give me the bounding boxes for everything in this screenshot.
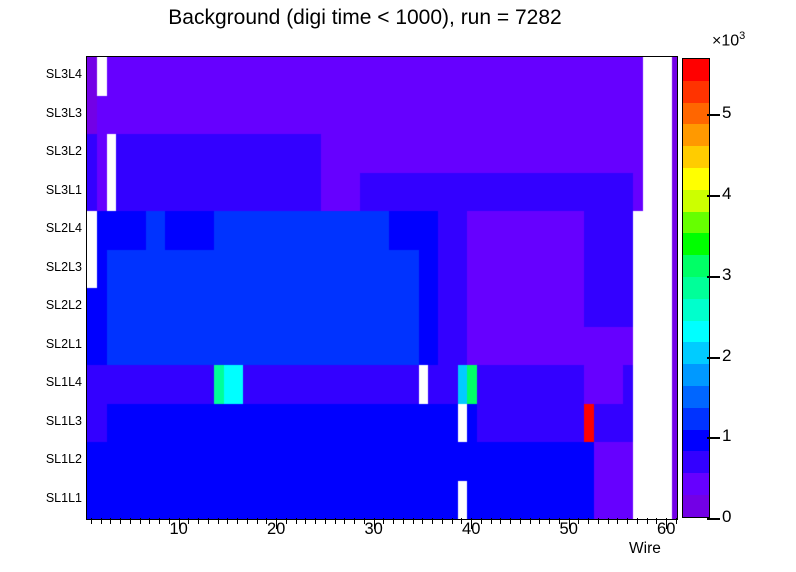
x-tick-label-50: 50: [549, 520, 589, 539]
y-axis-label-sl1l3: SL1L3: [20, 414, 82, 428]
x-tick-minor: [149, 518, 150, 524]
x-tick-label-10: 10: [159, 520, 199, 539]
colorbar-tick-label-2: 2: [722, 346, 731, 366]
y-axis-label-sl2l2: SL2L2: [20, 298, 82, 312]
colorbar-ticks: [706, 58, 720, 518]
y-axis-labels: SL3L4SL3L3SL3L2SL3L1SL2L4SL2L3SL2L2SL2L1…: [14, 56, 82, 518]
x-tick-minor: [101, 518, 102, 524]
y-axis-label-sl3l4: SL3L4: [20, 67, 82, 81]
x-tick-minor: [539, 518, 540, 524]
colorbar-tick-label-1: 1: [722, 426, 731, 446]
x-tick-minor: [608, 518, 609, 524]
x-tick-minor: [627, 518, 628, 524]
y-axis-label-sl2l1: SL2L1: [20, 337, 82, 351]
x-tick-minor: [422, 518, 423, 524]
x-tick-minor: [637, 518, 638, 524]
x-tick-minor: [227, 518, 228, 524]
x-tick-minor: [403, 518, 404, 524]
x-tick-minor: [432, 518, 433, 524]
root-canvas: Background (digi time < 1000), run = 728…: [0, 0, 796, 572]
x-axis-title: Wire: [629, 540, 661, 558]
x-tick-minor: [91, 518, 92, 524]
x-tick-minor: [500, 518, 501, 524]
colorbar-tick: [707, 437, 720, 439]
x-tick-minor: [218, 518, 219, 524]
x-tick-label-30: 30: [354, 520, 394, 539]
x-tick-minor: [140, 518, 141, 524]
colorbar-tick: [707, 195, 720, 197]
y-axis-label-sl2l3: SL2L3: [20, 260, 82, 274]
colorbar-exponent-power: 3: [739, 30, 745, 42]
x-tick-minor: [305, 518, 306, 524]
colorbar-tick: [707, 518, 720, 520]
heatmap-plot-frame[interactable]: [86, 56, 678, 520]
x-tick-minor: [325, 518, 326, 524]
x-tick-minor: [130, 518, 131, 524]
colorbar-tick-label-4: 4: [722, 184, 731, 204]
x-tick-minor: [510, 518, 511, 524]
x-tick-minor: [237, 518, 238, 524]
x-tick-minor: [335, 518, 336, 524]
colorbar-tick: [707, 276, 720, 278]
x-tick-minor: [120, 518, 121, 524]
y-axis-label-sl3l1: SL3L1: [20, 183, 82, 197]
x-tick-label-20: 20: [256, 520, 296, 539]
colorbar-tick: [707, 357, 720, 359]
heatmap-canvas[interactable]: [87, 57, 677, 519]
x-tick-minor: [110, 518, 111, 524]
x-tick-minor: [247, 518, 248, 524]
chart-title: Background (digi time < 1000), run = 728…: [0, 6, 730, 30]
y-axis-label-sl1l4: SL1L4: [20, 375, 82, 389]
x-tick-minor: [315, 518, 316, 524]
colorbar-exponent: ×103: [712, 30, 745, 50]
y-axis-label-sl1l1: SL1L1: [20, 491, 82, 505]
colorbar-exponent-base: ×10: [712, 32, 739, 49]
y-axis-label-sl2l4: SL2L4: [20, 221, 82, 235]
x-tick-label-60: 60: [646, 520, 686, 539]
y-axis-label-sl3l3: SL3L3: [20, 106, 82, 120]
x-tick-minor: [208, 518, 209, 524]
colorbar-tick-label-5: 5: [722, 103, 731, 123]
x-tick-minor: [413, 518, 414, 524]
x-tick-label-40: 40: [451, 520, 491, 539]
x-tick-minor: [520, 518, 521, 524]
y-axis-label-sl1l2: SL1L2: [20, 452, 82, 466]
colorbar-tick: [707, 114, 720, 116]
x-tick-minor: [617, 518, 618, 524]
x-tick-minor: [442, 518, 443, 524]
y-axis-label-sl3l2: SL3L2: [20, 144, 82, 158]
x-tick-minor: [344, 518, 345, 524]
colorbar-tick-label-0: 0: [722, 507, 731, 527]
x-tick-minor: [530, 518, 531, 524]
colorbar-tick-label-3: 3: [722, 265, 731, 285]
x-tick-minor: [598, 518, 599, 524]
